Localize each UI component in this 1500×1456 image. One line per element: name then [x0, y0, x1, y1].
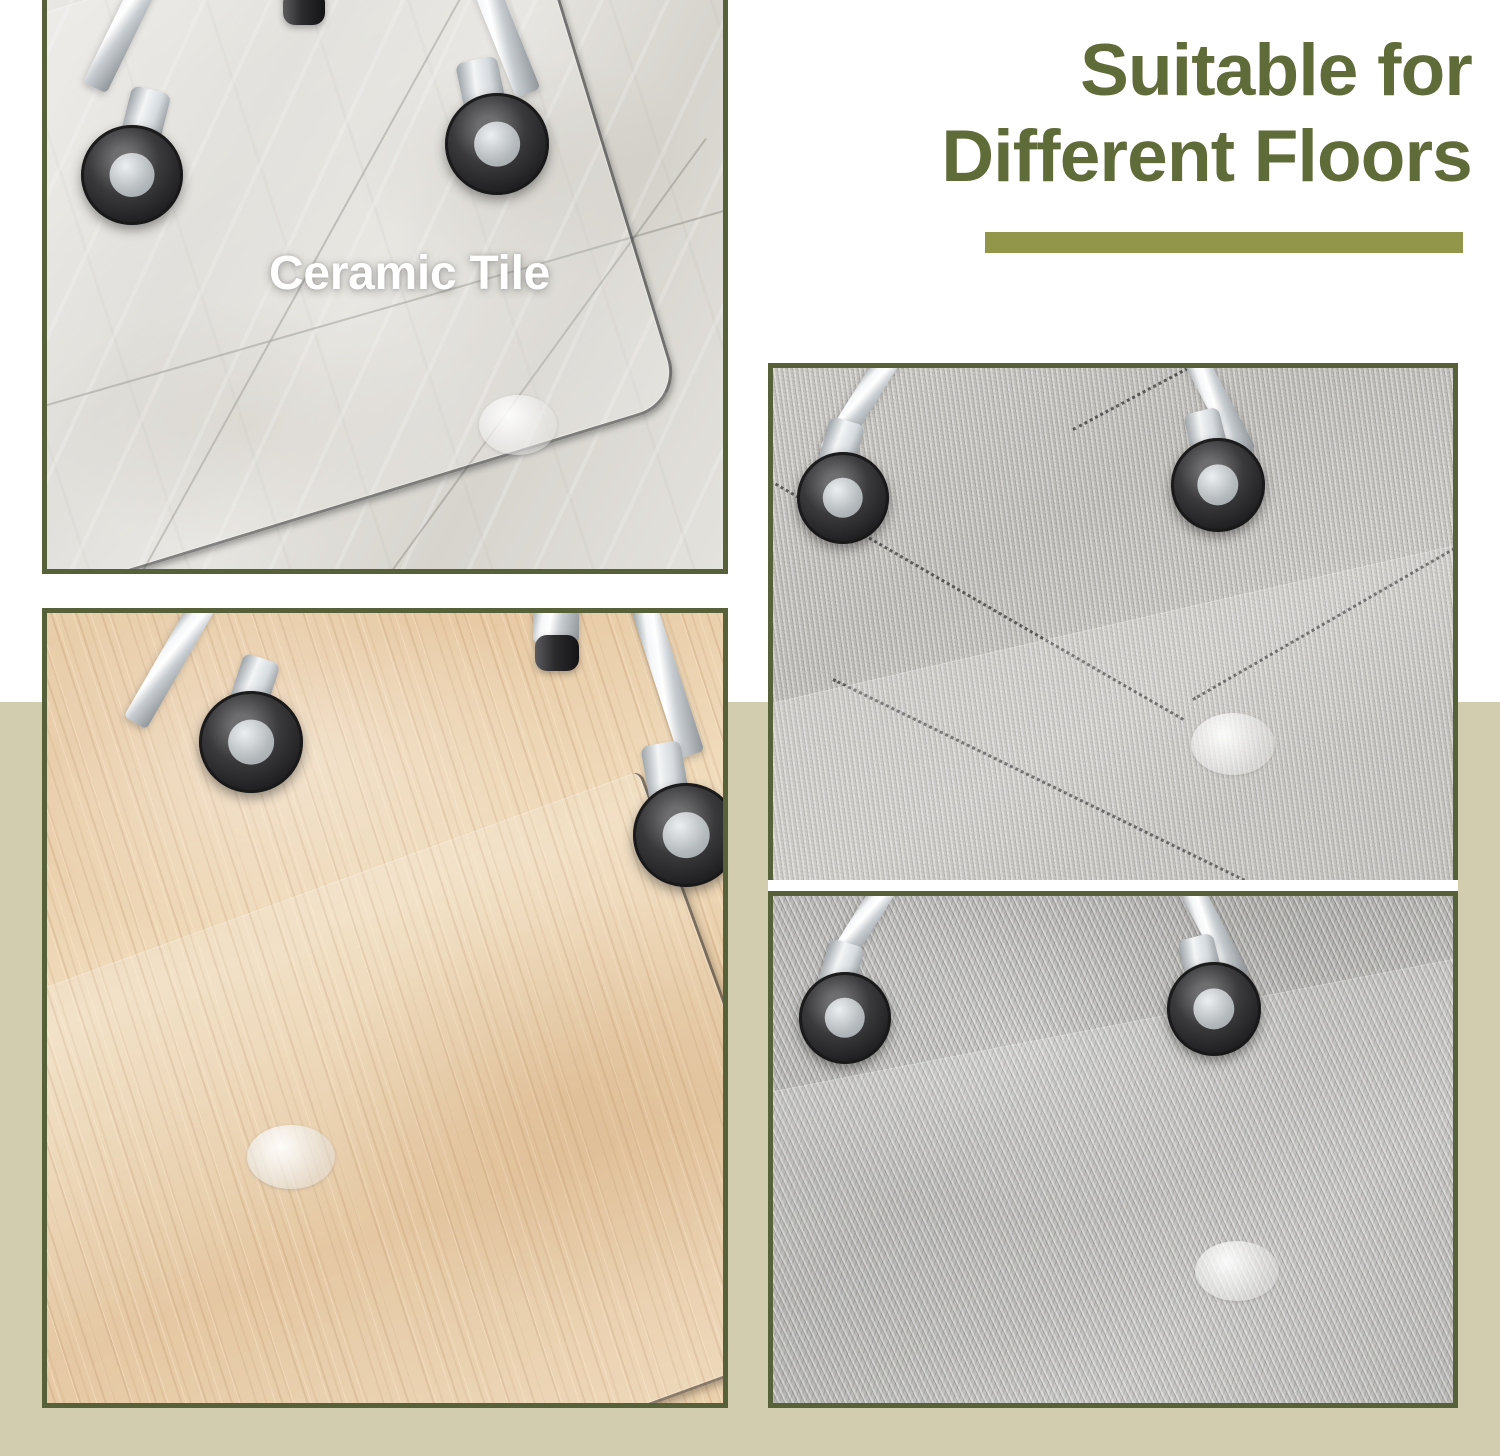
mat-anti-slip-dot	[1191, 713, 1275, 775]
panel-label-ceramic-tile: Ceramic Tile	[269, 246, 550, 301]
chair-caster	[81, 125, 183, 225]
panel-short-pile-carpet: Short-Pile Carpet	[768, 363, 1458, 885]
chair-column-cap	[535, 635, 579, 671]
panel-wooden-floor: Wooden Floor	[42, 608, 728, 1408]
panel-high-pile-carpet: High-Pile Carpet	[768, 891, 1458, 1408]
infographic-canvas: Suitable for Different Floors Ceramic T	[0, 0, 1500, 1456]
chair-caster	[445, 93, 549, 195]
panel-wooden-floor-photo	[47, 613, 723, 1403]
chair-caster	[1171, 438, 1265, 532]
chair-column-cap	[283, 0, 325, 25]
page-title-line-1: Suitable for	[760, 28, 1472, 114]
chair-caster	[799, 972, 891, 1064]
chair-caster	[199, 691, 303, 793]
page-title: Suitable for Different Floors	[760, 28, 1472, 200]
panel-ceramic-tile: Ceramic Tile	[42, 0, 728, 574]
title-underline-rule	[985, 232, 1463, 253]
mat-anti-slip-dot	[247, 1125, 335, 1189]
mat-anti-slip-dot	[1195, 1241, 1279, 1301]
panel-short-pile-carpet-photo	[773, 368, 1453, 880]
right-panels-divider	[768, 880, 1458, 891]
chair-caster	[797, 452, 889, 544]
mat-anti-slip-dot	[479, 395, 557, 455]
chair-caster	[1167, 962, 1261, 1056]
panel-high-pile-carpet-photo	[773, 896, 1453, 1403]
page-title-line-2: Different Floors	[760, 114, 1472, 200]
